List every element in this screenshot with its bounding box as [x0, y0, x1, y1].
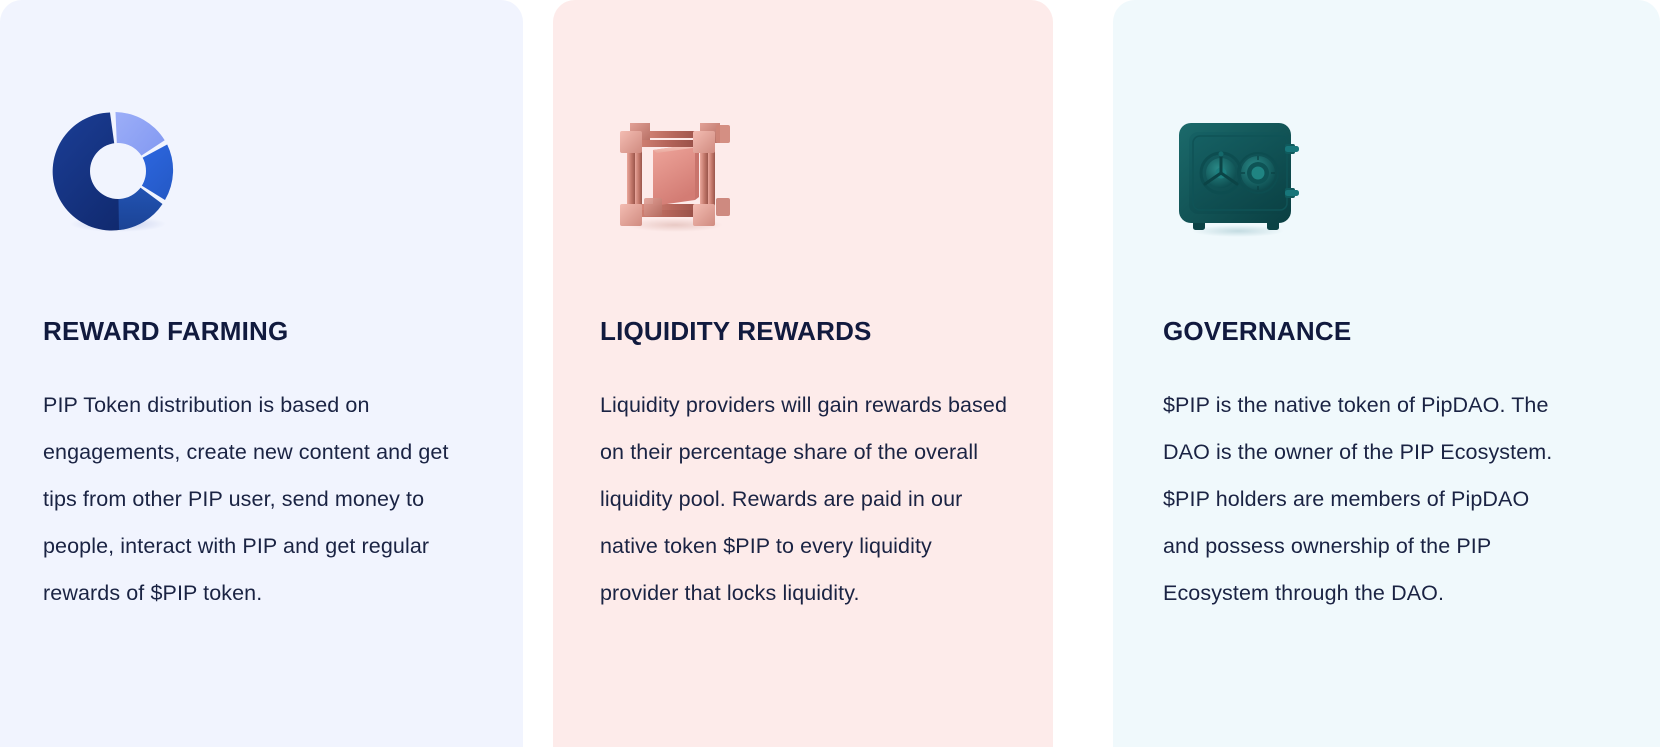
card-reward-farming[interactable]: REWARD FARMING PIP Token distribution is… [0, 0, 523, 747]
card-title: GOVERNANCE [1163, 316, 1351, 347]
cube-frame-icon [600, 98, 750, 248]
card-description: $PIP is the native token of PipDAO. The … [1163, 382, 1563, 617]
card-description: Liquidity providers will gain rewards ba… [600, 382, 1012, 617]
donut-chart-icon [43, 96, 193, 246]
card-description: PIP Token distribution is based on engag… [43, 382, 463, 617]
card-liquidity-rewards[interactable]: LIQUIDITY REWARDS Liquidity providers wi… [553, 0, 1053, 747]
card-governance[interactable]: GOVERNANCE $PIP is the native token of P… [1113, 0, 1660, 747]
card-title: REWARD FARMING [43, 316, 288, 347]
safe-vault-icon [1163, 100, 1313, 250]
feature-cards-row: REWARD FARMING PIP Token distribution is… [0, 0, 1660, 747]
card-title: LIQUIDITY REWARDS [600, 316, 872, 347]
